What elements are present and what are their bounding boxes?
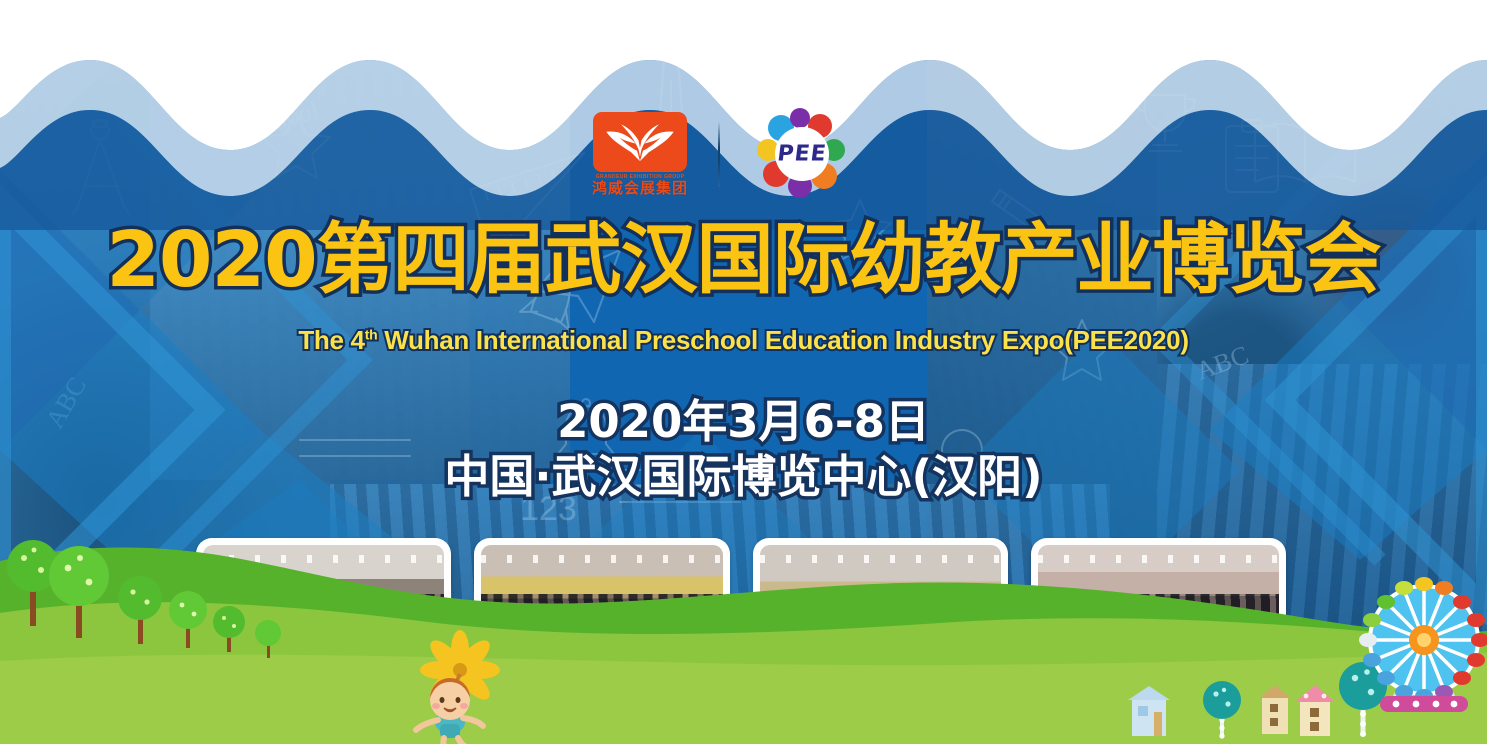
title-en-ordinal: th	[365, 326, 378, 342]
organizer-chinese-name: 鸿威会展集团	[592, 181, 688, 196]
logo-row: GRANDEUR EXHIBITION GROUP 鸿威会展集团	[590, 104, 910, 204]
event-venue: 中国·武汉国际博览中心(汉阳)	[0, 440, 1487, 505]
main-title-english: The 4th Wuhan International Preschool Ed…	[0, 325, 1487, 356]
expo-logo-text: PEE	[752, 142, 851, 167]
organizer-logo[interactable]: GRANDEUR EXHIBITION GROUP 鸿威会展集团	[590, 112, 690, 196]
wing-w-logo-icon	[593, 112, 687, 172]
title-en-rest: Wuhan International Preschool Education …	[377, 325, 1188, 355]
expo-logo[interactable]: PEE	[754, 106, 850, 202]
grass-foreground	[0, 539, 1487, 744]
title-en-prefix: The 4	[298, 325, 364, 355]
logo-divider	[718, 121, 720, 187]
main-title-chinese: 2020第四届武汉国际幼教产业博览会	[0, 222, 1487, 299]
expo-banner: 123 123 school School ABC ABC	[0, 0, 1487, 744]
